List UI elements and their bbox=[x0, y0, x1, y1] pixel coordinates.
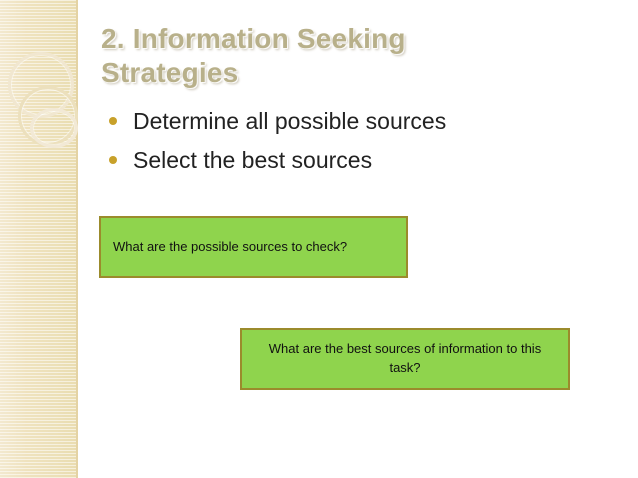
list-item: Determine all possible sources bbox=[103, 105, 573, 138]
callout-text: What are the best sources of information… bbox=[252, 340, 558, 378]
slide-canvas: 2. Information Seeking Strategies Determ… bbox=[0, 0, 638, 478]
bullet-dot-icon bbox=[109, 156, 117, 164]
callout-text: What are the possible sources to check? bbox=[113, 238, 347, 257]
decorative-band-edge bbox=[76, 0, 78, 478]
bullet-text: Select the best sources bbox=[133, 147, 372, 173]
callout-box-best-sources: What are the best sources of information… bbox=[240, 328, 570, 390]
bullet-list: Determine all possible sources Select th… bbox=[103, 105, 573, 182]
callout-box-possible-sources: What are the possible sources to check? bbox=[99, 216, 408, 278]
slide-title: 2. Information Seeking Strategies bbox=[101, 22, 521, 90]
bullet-dot-icon bbox=[109, 117, 117, 125]
bullet-text: Determine all possible sources bbox=[133, 108, 446, 134]
decorative-ring-icon bbox=[30, 108, 78, 148]
list-item: Select the best sources bbox=[103, 144, 573, 177]
